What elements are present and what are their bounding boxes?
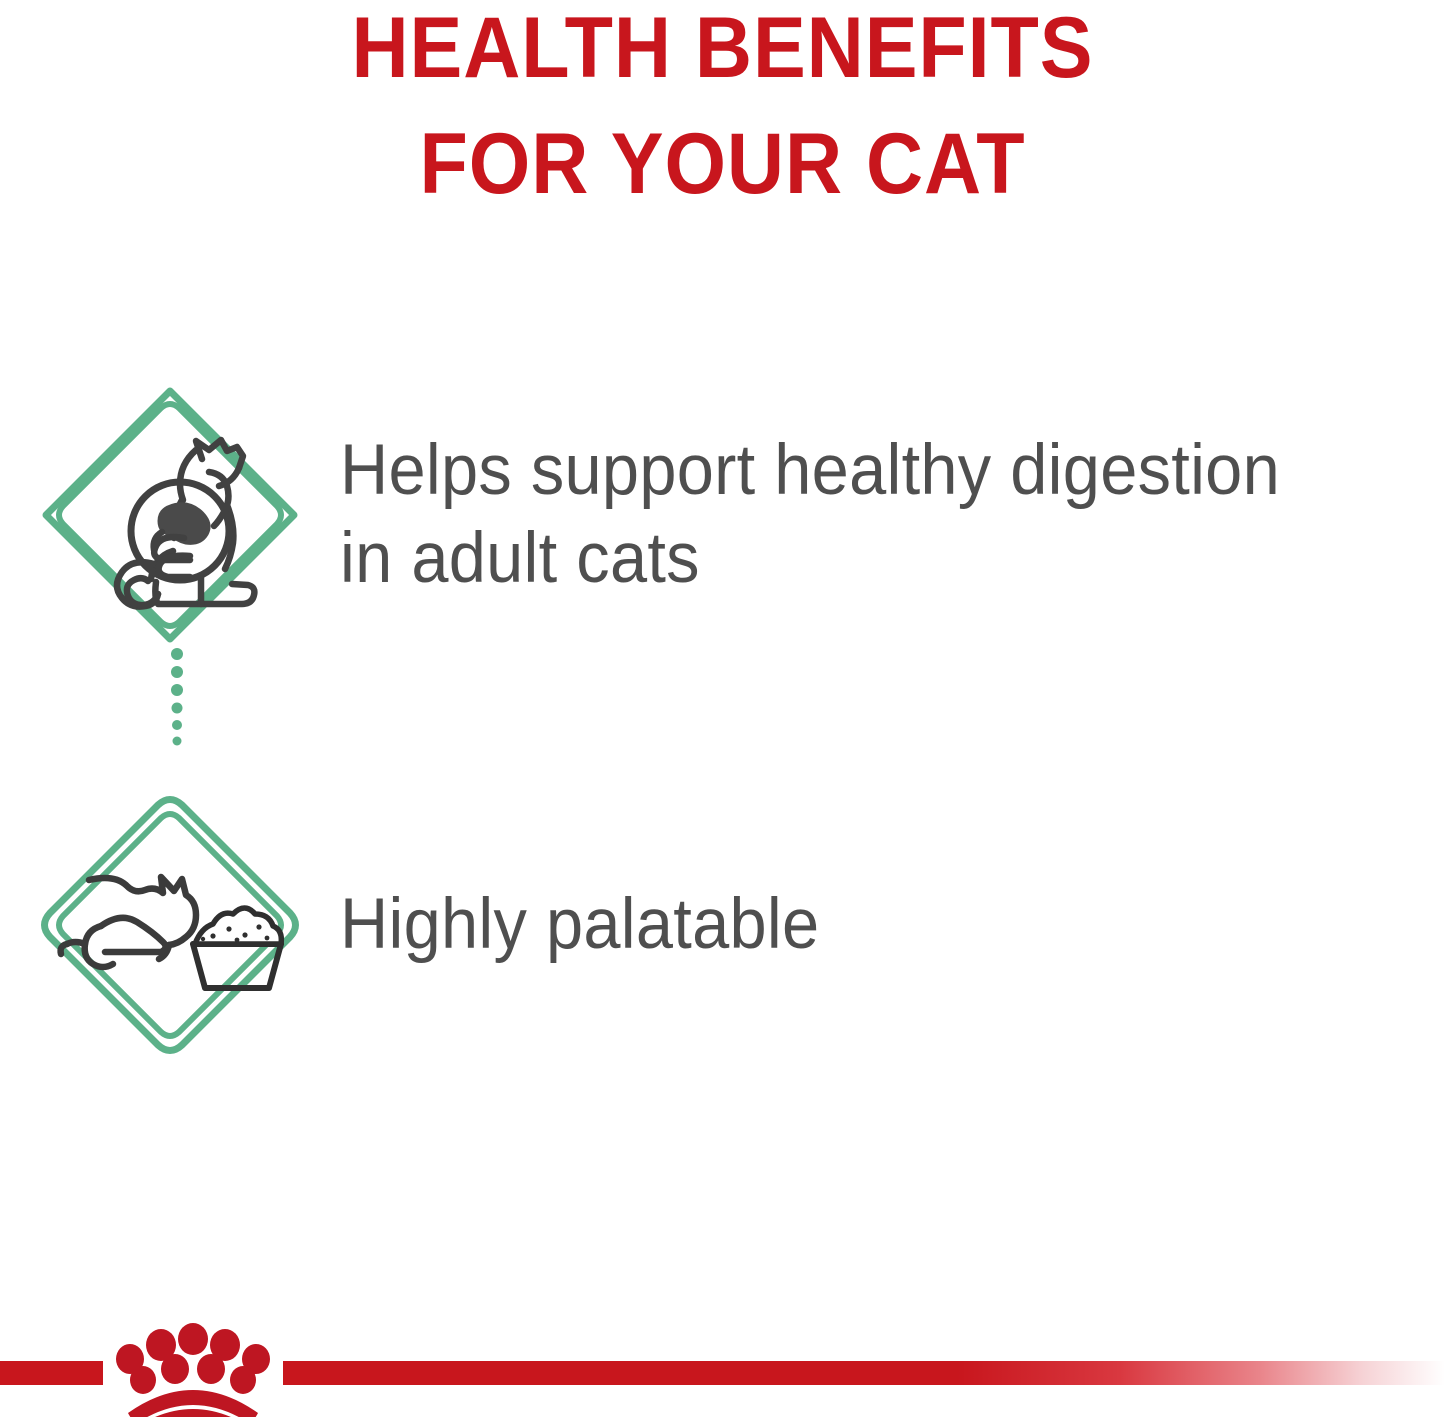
benefits-list: Helps support healthy digestion in adult…	[0, 370, 1445, 1070]
dotted-connector	[170, 648, 184, 748]
page-title-line-2: FOR YOUR CAT	[58, 106, 1387, 222]
benefit-text-cell: Helps support healthy digestion in adult…	[340, 427, 1445, 603]
royal-canin-crown-logo	[100, 1311, 286, 1417]
cat-eating-bowl-icon	[41, 796, 299, 1054]
benefit-label: Helps support healthy digestion in adult…	[340, 427, 1341, 603]
cat-digestion-icon	[41, 386, 299, 644]
benefit-label: Highly palatable	[340, 881, 1341, 969]
footer-bar-right	[283, 1361, 1445, 1385]
benefit-text-cell: Highly palatable	[340, 881, 1445, 969]
footer-bar-left	[0, 1361, 103, 1385]
benefit-icon-cell	[0, 370, 340, 660]
benefit-item: Helps support healthy digestion in adult…	[0, 370, 1445, 660]
page-title-line-1: HEALTH BENEFITS	[58, 0, 1387, 106]
page-title: HEALTH BENEFITS FOR YOUR CAT	[0, 0, 1445, 222]
benefit-item: Highly palatable	[0, 780, 1445, 1070]
footer	[0, 1297, 1445, 1417]
benefit-icon-cell	[0, 780, 340, 1070]
